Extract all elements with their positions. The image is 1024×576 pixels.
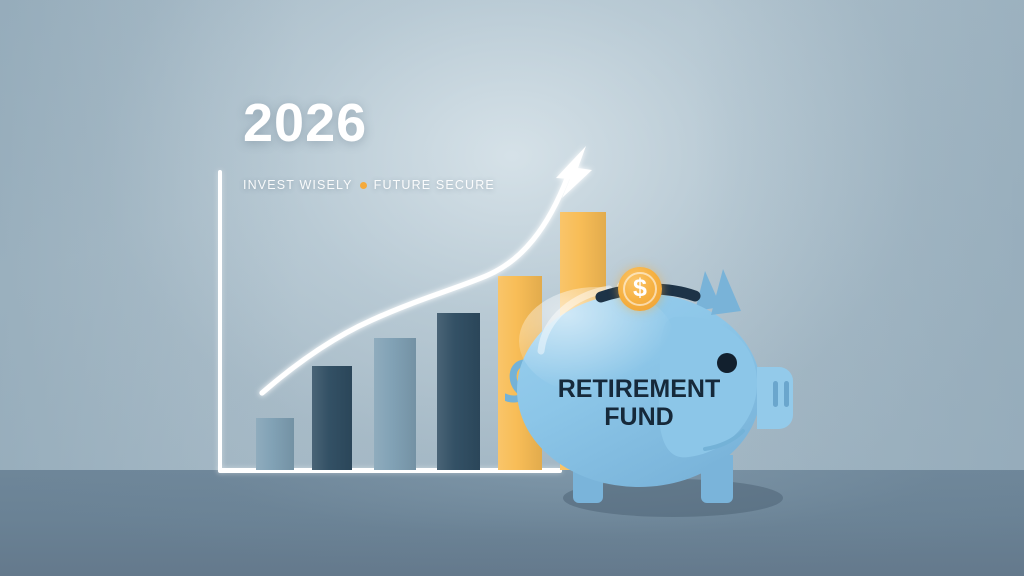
dollar-sign-icon: $ [633, 276, 647, 301]
chart-bar-shading [312, 366, 352, 470]
headline-block: 2026 INVEST WISELY FUTURE SECURE [243, 96, 673, 192]
chart-bar [437, 313, 480, 470]
chart-bar [374, 338, 416, 470]
tagline-right-text: FUTURE SECURE [374, 178, 495, 192]
piggy-ear-icon [711, 269, 741, 315]
piggy-label-line-1: RETIREMENT [558, 375, 721, 403]
chart-bar [312, 366, 352, 470]
tagline: INVEST WISELY FUTURE SECURE [243, 178, 673, 192]
piggy-label-line-2: FUND [604, 403, 673, 431]
poster-canvas: 2026 INVEST WISELY FUTURE SECURE [0, 0, 1024, 576]
piggy-nostril-right [784, 381, 789, 407]
chart-bar-shading [256, 418, 294, 470]
piggy-bank-illustration: RETIREMENT FUND [505, 255, 825, 523]
tagline-left-text: INVEST WISELY [243, 178, 353, 192]
piggy-eye [717, 353, 737, 373]
bullet-dot-icon [360, 182, 367, 189]
chart-bar-shading [437, 313, 480, 470]
coin-face: $ [618, 267, 662, 311]
piggy-nostril-left [773, 381, 778, 407]
coin-icon: $ [618, 267, 662, 311]
page-title: 2026 [243, 96, 673, 150]
chart-bar-shading [374, 338, 416, 470]
chart-bar [256, 418, 294, 470]
